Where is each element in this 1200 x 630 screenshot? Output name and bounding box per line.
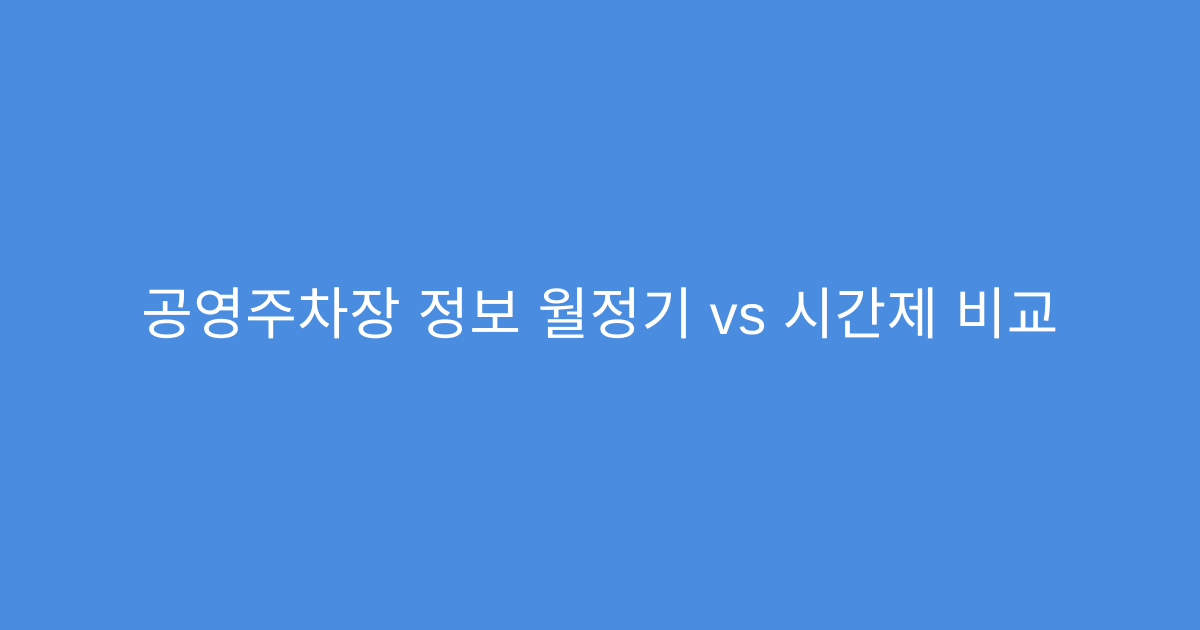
share-card: 공영주차장 정보 월정기 vs 시간제 비교 [0, 0, 1200, 630]
card-title: 공영주차장 정보 월정기 vs 시간제 비교 [141, 280, 1059, 350]
